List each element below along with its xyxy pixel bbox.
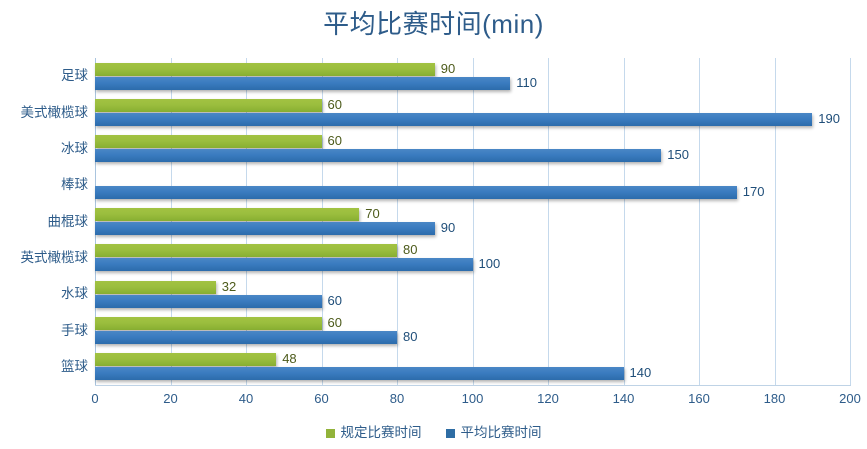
bar-row: 190	[95, 113, 850, 126]
bar-wrapper: 60	[95, 99, 850, 112]
chart-legend: 规定比赛时间平均比赛时间	[0, 424, 867, 442]
value-axis-tick-label: 20	[163, 389, 177, 409]
legend-item[interactable]: 平均比赛时间	[446, 424, 542, 442]
bar-regulation-time[interactable]	[95, 281, 216, 294]
bar-average-time[interactable]	[95, 331, 397, 344]
bar-regulation-time[interactable]	[95, 135, 322, 148]
bar-wrapper: 90	[95, 63, 850, 76]
category-label: 手球	[0, 322, 88, 340]
bar-row: 60	[95, 135, 850, 148]
bar-average-time[interactable]	[95, 149, 661, 162]
value-axis-line	[95, 385, 851, 386]
category-label: 棒球	[0, 176, 88, 194]
value-axis-tick-label: 140	[613, 389, 635, 409]
bar-regulation-time[interactable]	[95, 63, 435, 76]
bar-row: 70	[95, 208, 850, 221]
value-axis-tick-label: 180	[764, 389, 786, 409]
value-axis-tick-label: 60	[314, 389, 328, 409]
bar-value-label: 60	[328, 292, 342, 310]
bar-average-time[interactable]	[95, 186, 737, 199]
bar-wrapper: 70	[95, 208, 850, 221]
bar-chart: 平均比赛时间(min) 足球美式橄榄球冰球棒球曲棍球英式橄榄球水球手球篮球 90…	[0, 0, 867, 449]
value-axis-tick-label: 100	[462, 389, 484, 409]
legend-swatch-green-icon	[326, 429, 335, 438]
bar-value-label: 60	[328, 132, 342, 150]
gridline	[850, 58, 851, 385]
bar-average-time[interactable]	[95, 367, 624, 380]
bar-regulation-time[interactable]	[95, 244, 397, 257]
bar-regulation-time[interactable]	[95, 353, 276, 366]
bar-row: 140	[95, 367, 850, 380]
plot-area: 9011060190601501707090801003260608048140	[95, 58, 850, 385]
bar-average-time[interactable]	[95, 77, 510, 90]
bar-row: 80	[95, 244, 850, 257]
bar-row: 150	[95, 149, 850, 162]
bar-wrapper: 80	[95, 244, 850, 257]
bar-row: 60	[95, 317, 850, 330]
bar-value-label: 60	[328, 314, 342, 332]
value-axis-tick-label: 40	[239, 389, 253, 409]
bar-wrapper: 32	[95, 281, 850, 294]
bar-wrapper: 60	[95, 295, 850, 308]
bar-value-label: 170	[743, 183, 765, 201]
category-axis-labels: 足球美式橄榄球冰球棒球曲棍球英式橄榄球水球手球篮球	[0, 58, 88, 385]
bar-wrapper: 150	[95, 149, 850, 162]
bar-regulation-time[interactable]	[95, 208, 359, 221]
bar-row: 60	[95, 295, 850, 308]
bar-value-label: 90	[441, 60, 455, 78]
bar-row: 60	[95, 99, 850, 112]
legend-label: 规定比赛时间	[341, 424, 422, 442]
bar-regulation-time[interactable]	[95, 99, 322, 112]
bar-value-label: 140	[630, 364, 652, 382]
bar-row: 100	[95, 258, 850, 271]
bar-wrapper: 190	[95, 113, 850, 126]
bar-average-time[interactable]	[95, 295, 322, 308]
category-label: 美式橄榄球	[0, 104, 88, 122]
bar-value-label: 100	[479, 255, 501, 273]
bar-row: 90	[95, 63, 850, 76]
category-label: 篮球	[0, 358, 88, 376]
bar-average-time[interactable]	[95, 113, 812, 126]
bar-average-time[interactable]	[95, 258, 473, 271]
bar-rows: 9011060190601501707090801003260608048140	[95, 58, 850, 385]
bar-row: 80	[95, 331, 850, 344]
category-label: 曲棍球	[0, 213, 88, 231]
bar-wrapper: 110	[95, 77, 850, 90]
bar-regulation-time[interactable]	[95, 317, 322, 330]
chart-title: 平均比赛时间(min)	[0, 6, 867, 42]
bar-value-label: 70	[365, 205, 379, 223]
bar-value-label: 90	[441, 219, 455, 237]
value-axis-tick-label: 160	[688, 389, 710, 409]
legend-label: 平均比赛时间	[461, 424, 542, 442]
bar-wrapper: 90	[95, 222, 850, 235]
value-axis-labels: 020406080100120140160180200	[95, 389, 851, 411]
bar-value-label: 110	[516, 74, 537, 92]
legend-item[interactable]: 规定比赛时间	[326, 424, 422, 442]
bar-wrapper: 60	[95, 317, 850, 330]
bar-row: 48	[95, 353, 850, 366]
bar-value-label: 80	[403, 241, 417, 259]
bar-value-label: 150	[667, 146, 689, 164]
bar-value-label: 32	[222, 278, 236, 296]
value-axis-tick-label: 200	[839, 389, 861, 409]
bar-value-label: 190	[818, 110, 840, 128]
bar-value-label: 48	[282, 350, 296, 368]
value-axis-tick-label: 120	[537, 389, 559, 409]
bar-wrapper: 60	[95, 135, 850, 148]
value-axis-tick-label: 0	[91, 389, 98, 409]
bar-wrapper: 100	[95, 258, 850, 271]
legend-swatch-blue-icon	[446, 429, 455, 438]
bar-value-label: 60	[328, 96, 342, 114]
bar-row: 170	[95, 186, 850, 199]
bar-wrapper: 170	[95, 186, 850, 199]
bar-row: 90	[95, 222, 850, 235]
category-label: 足球	[0, 67, 88, 85]
bar-wrapper: 80	[95, 331, 850, 344]
category-label: 英式橄榄球	[0, 249, 88, 267]
bar-row: 110	[95, 77, 850, 90]
value-axis-tick-label: 80	[390, 389, 404, 409]
bar-value-label: 80	[403, 328, 417, 346]
category-label: 冰球	[0, 140, 88, 158]
bar-average-time[interactable]	[95, 222, 435, 235]
bar-wrapper: 48	[95, 353, 850, 366]
category-label: 水球	[0, 285, 88, 303]
bar-wrapper: 140	[95, 367, 850, 380]
bar-row: 32	[95, 281, 850, 294]
